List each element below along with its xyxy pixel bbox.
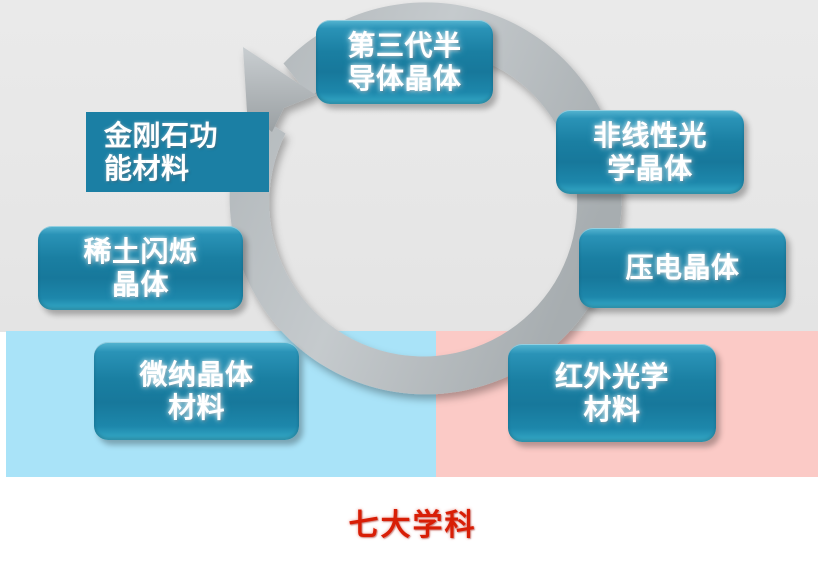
node-rare-earth-scintillation-crystal[interactable]: 稀土闪烁 晶体 bbox=[38, 226, 243, 310]
node-label: 金刚石功 能材料 bbox=[104, 119, 218, 185]
diagram-canvas: 第三代半 导体晶体 非线性光 学晶体 压电晶体 红外光学 材料 微纳晶体 材料 … bbox=[0, 0, 825, 568]
node-nonlinear-optical-crystal[interactable]: 非线性光 学晶体 bbox=[556, 110, 744, 194]
node-label: 第三代半 导体晶体 bbox=[347, 29, 461, 95]
node-label: 压电晶体 bbox=[625, 251, 739, 284]
node-label: 微纳晶体 材料 bbox=[139, 358, 253, 424]
node-piezoelectric-crystal[interactable]: 压电晶体 bbox=[579, 228, 786, 308]
node-diamond-functional-material[interactable]: 金刚石功 能材料 bbox=[86, 112, 269, 192]
node-label: 红外光学 材料 bbox=[555, 360, 669, 426]
node-third-gen-semiconductor-crystal[interactable]: 第三代半 导体晶体 bbox=[316, 20, 493, 104]
node-label: 稀土闪烁 晶体 bbox=[83, 235, 197, 301]
diagram-caption: 七大学科 bbox=[0, 500, 825, 544]
node-label: 非线性光 学晶体 bbox=[593, 119, 707, 185]
node-micro-nano-crystal-material[interactable]: 微纳晶体 材料 bbox=[94, 342, 299, 440]
node-infrared-optical-material[interactable]: 红外光学 材料 bbox=[508, 344, 716, 442]
